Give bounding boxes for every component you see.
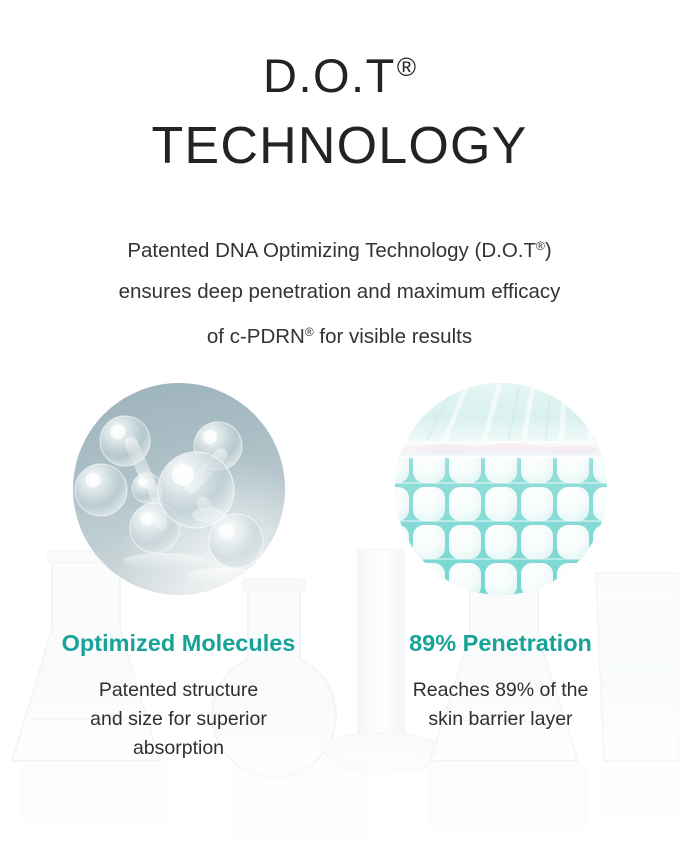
page-title: D.O.T® TECHNOLOGY — [0, 52, 679, 176]
subtitle-line3-before: of c-PDRN — [207, 325, 305, 348]
feature-heading-penetration: 89% Penetration — [409, 631, 592, 657]
subtitle-line3-after: for visible results — [314, 325, 472, 348]
subtitle-line1-after: ) — [545, 239, 552, 262]
feature-columns: Optimized Molecules Patented structure a… — [0, 383, 679, 763]
feature-body-line: absorption — [133, 737, 224, 759]
feature-body-penetration: Reaches 89% of the skin barrier layer — [366, 676, 636, 734]
feature-body-line: and size for superior — [90, 708, 267, 730]
molecule-illustration — [73, 383, 285, 595]
subtitle-line-3: of c-PDRN® for visible results — [207, 325, 472, 348]
title-dot-text: D.O.T — [263, 49, 396, 102]
feature-body-line: skin barrier layer — [428, 708, 572, 730]
feature-body-line: Patented structure — [99, 679, 258, 701]
subtitle-line-1: Patented DNA Optimizing Technology (D.O.… — [127, 239, 551, 262]
feature-heading-optimized-molecules: Optimized Molecules — [62, 631, 296, 657]
registered-mark-icon: ® — [536, 239, 545, 253]
subtitle-line1-before: Patented DNA Optimizing Technology (D.O.… — [127, 239, 536, 262]
feature-column-optimized-molecules: Optimized Molecules Patented structure a… — [18, 383, 340, 763]
subtitle-line-2: ensures deep penetration and maximum eff… — [119, 280, 561, 303]
registered-mark-icon: ® — [397, 52, 416, 82]
dot-technology-infographic: D.O.T® TECHNOLOGY Patented DNA Optimizin… — [0, 0, 679, 849]
title-line-technology: TECHNOLOGY — [0, 120, 679, 176]
skin-barrier-illustration — [395, 383, 607, 595]
feature-body-line: Reaches 89% of the — [413, 679, 589, 701]
feature-column-penetration: 89% Penetration Reaches 89% of the skin … — [340, 383, 662, 763]
title-line-dot: D.O.T® — [0, 52, 679, 102]
registered-mark-icon: ® — [305, 325, 314, 339]
subtitle: Patented DNA Optimizing Technology (D.O.… — [30, 226, 649, 357]
feature-body-optimized-molecules: Patented structure and size for superior… — [44, 676, 314, 763]
